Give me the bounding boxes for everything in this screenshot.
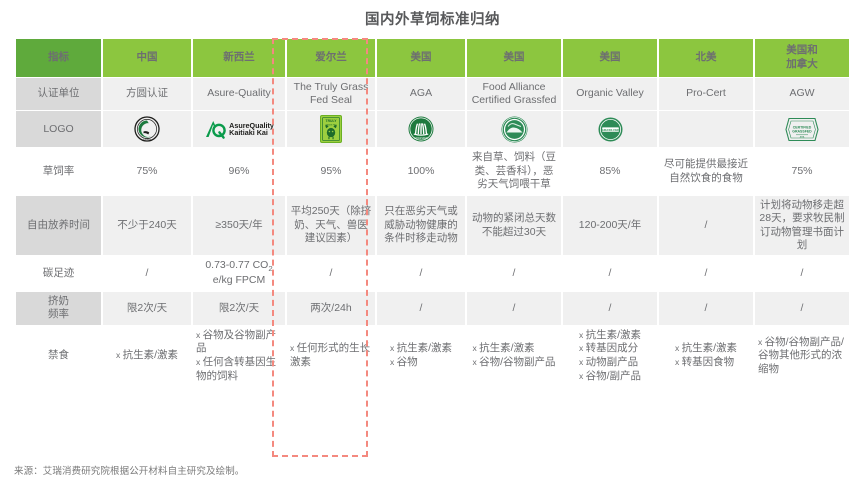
header-row: 指标 中国 新西兰 爱尔兰 美国 美国 美国 北美 美国和 加拿大 xyxy=(16,39,849,77)
cell-banned-newzealand: x 谷物及谷物副产品x 任何含转基因生物的饲料 xyxy=(193,326,285,387)
ban-x-mark-icon: x xyxy=(675,357,682,367)
cell-grassrate-usa-canada: 75% xyxy=(755,148,849,194)
cell-logo-newzealand: AsureQuality Kaitiaki Kai xyxy=(193,111,285,147)
header-usa-canada-line1: 美国和 xyxy=(786,44,818,56)
table-row-certification-body: 认证单位 方圆认证 Asure-Quality The Truly Grass … xyxy=(16,78,849,111)
header-usa-organicvalley: 美国 xyxy=(563,39,657,77)
header-usa-canada: 美国和 加拿大 xyxy=(755,39,849,77)
ban-x-mark-icon: x xyxy=(390,343,397,353)
ban-item: x 抗生素/激素 xyxy=(675,342,737,356)
cell-cert-usa-organicvalley: Organic Valley xyxy=(563,78,657,111)
ban-item: x 抗生素/激素 xyxy=(579,329,641,343)
cell-logo-usa-foodalliance xyxy=(467,111,561,147)
ban-item-label: 谷物/副产品 xyxy=(586,370,641,382)
ban-item: x 任何含转基因生物的饲料 xyxy=(196,356,282,383)
header-china: 中国 xyxy=(103,39,191,77)
asurequality-logo-text: AsureQuality Kaitiaki Kai xyxy=(229,122,274,137)
ban-item: x 谷物 xyxy=(390,356,452,370)
comparison-table-container: 指标 中国 新西兰 爱尔兰 美国 美国 美国 北美 美国和 加拿大 认证单位 方… xyxy=(0,38,865,388)
ban-item-label: 抗生素/激素 xyxy=(479,342,534,354)
cell-grassrate-usa-organicvalley: 85% xyxy=(563,148,657,194)
row-label-milking-frequency: 挤奶 频率 xyxy=(16,292,101,325)
cell-freerange-usa-organicvalley: 120-200天/年 xyxy=(563,196,657,256)
ban-item-label: 动物副产品 xyxy=(586,356,639,368)
cell-freerange-usa-canada: 计划将动物移走超28天，要求牧民制订动物管理书面计划 xyxy=(755,196,849,256)
ban-x-mark-icon: x xyxy=(290,343,297,353)
ban-x-mark-icon: x xyxy=(758,337,765,347)
ban-item: x 动物副产品 xyxy=(579,356,641,370)
source-note: 来源：艾瑞消费研究院根据公开材料自主研究及绘制。 xyxy=(14,463,244,477)
cell-cert-north-america: Pro-Cert xyxy=(659,78,753,111)
ban-x-mark-icon: x xyxy=(579,343,586,353)
ban-x-mark-icon: x xyxy=(675,343,682,353)
table-row-logo: LOGO CHINA xyxy=(16,111,849,147)
cell-cert-newzealand: Asure-Quality xyxy=(193,78,285,111)
cell-carbon-north-america: / xyxy=(659,256,753,290)
ban-x-mark-icon: x xyxy=(116,350,123,360)
header-usa-aga: 美国 xyxy=(377,39,465,77)
cell-grassrate-usa-aga: 100% xyxy=(377,148,465,194)
header-ireland: 爱尔兰 xyxy=(287,39,375,77)
table-row-free-range: 自由放养时间 不少于240天 ≥350天/年 平均250天（除挤奶、天气、兽医建… xyxy=(16,196,849,256)
ban-item-label: 任何形式的生长激素 xyxy=(290,342,370,368)
cell-milking-usa-organicvalley: / xyxy=(563,292,657,325)
table-row-milking-frequency: 挤奶 频率 限2次/天 限2次/天 两次/24h / / / / / xyxy=(16,292,849,325)
aga-badge-text: GRASSFED xyxy=(414,138,428,141)
agw-badge-line2: GRASSFED xyxy=(792,129,812,133)
row-label-banned-feed: 禁食 xyxy=(16,326,101,387)
ban-item-label: 谷物 xyxy=(397,356,418,368)
cell-banned-china: x 抗生素/激素 xyxy=(103,326,191,387)
aga-grassfed-circle-icon: GRASSFED xyxy=(380,115,462,143)
cell-carbon-usa-organicvalley: / xyxy=(563,256,657,290)
table-body: 认证单位 方圆认证 Asure-Quality The Truly Grass … xyxy=(16,78,849,387)
cell-logo-ireland: TRULY GRASS FED xyxy=(287,111,375,147)
svg-text:TRULY: TRULY xyxy=(326,119,338,123)
cell-milking-usa-aga: / xyxy=(377,292,465,325)
ban-item-label: 转基因食物 xyxy=(682,356,735,368)
cell-banned-ireland: x 任何形式的生长激素 xyxy=(287,326,375,387)
ban-x-mark-icon: x xyxy=(579,330,586,340)
table-row-banned-feed: 禁食 x 抗生素/激素 x 谷物及谷物副产品x 任何含转基因生物的饲料 x 任何… xyxy=(16,326,849,387)
cell-cert-ireland: The Truly Grass Fed Seal xyxy=(287,78,375,111)
row-label-grass-rate: 草饲率 xyxy=(16,148,101,194)
cell-milking-north-america: / xyxy=(659,292,753,325)
ban-item-label: 转基因成分 xyxy=(586,342,639,354)
header-usa-foodalliance: 美国 xyxy=(467,39,561,77)
ban-item-label: 谷物/谷物副产品 xyxy=(479,356,555,368)
milking-label-line2: 频率 xyxy=(48,308,69,320)
ban-item: x 谷物/谷物副产品 xyxy=(472,356,555,370)
truly-grass-fed-badge-icon: TRULY GRASS FED xyxy=(290,115,372,143)
milking-label-line1: 挤奶 xyxy=(48,295,69,307)
cell-grassrate-china: 75% xyxy=(103,148,191,194)
cell-carbon-usa-canada: / xyxy=(755,256,849,290)
cell-banned-north-america: x 抗生素/激素x 转基因食物 xyxy=(659,326,753,387)
ban-item: x 任何形式的生长激素 xyxy=(290,342,372,369)
ban-item: x 谷物及谷物副产品 xyxy=(196,329,282,356)
cell-carbon-china: / xyxy=(103,256,191,290)
header-usa-canada-line2: 加拿大 xyxy=(786,58,818,70)
carbon-value-sub: 2 xyxy=(268,265,272,274)
cell-logo-usa-aga: GRASSFED xyxy=(377,111,465,147)
ban-x-mark-icon: x xyxy=(196,330,203,340)
cell-cert-usa-foodalliance: Food Alliance Certified Grassfed xyxy=(467,78,561,111)
cell-carbon-newzealand: 0.73-0.77 CO2 e/kg FPCM xyxy=(193,256,285,290)
cell-carbon-ireland: / xyxy=(287,256,375,290)
cell-cert-usa-canada: AGW xyxy=(755,78,849,111)
organic-valley-grassfed-badge-icon: GRASS FED xyxy=(566,115,654,143)
certified-grassfed-awa-badge-icon: CERTIFIED GRASSFED AWA xyxy=(758,115,846,143)
ban-list-newzealand: x 谷物及谷物副产品x 任何含转基因生物的饲料 xyxy=(196,329,282,384)
ban-item-label: 谷物/谷物副产品/谷物其他形式的浓缩物 xyxy=(758,336,844,375)
cell-milking-usa-canada: / xyxy=(755,292,849,325)
page-title: 国内外草饲标准归纳 xyxy=(0,0,865,38)
cell-milking-newzealand: 限2次/天 xyxy=(193,292,285,325)
ban-item-label: 抗生素/激素 xyxy=(397,342,452,354)
ban-item: x 抗生素/激素 xyxy=(390,342,452,356)
organic-valley-badge-text: GRASS FED xyxy=(601,128,620,132)
cell-cert-china: 方圆认证 xyxy=(103,78,191,111)
cell-carbon-usa-aga: / xyxy=(377,256,465,290)
row-label-carbon-footprint: 碳足迹 xyxy=(16,256,101,290)
ban-item: x 抗生素/激素 xyxy=(116,349,178,363)
ban-item: x 谷物/副产品 xyxy=(579,370,641,384)
carbon-value-part2: e/kg FPCM xyxy=(213,274,266,286)
cell-banned-usa-foodalliance: x 抗生素/激素x 谷物/谷物副产品 xyxy=(467,326,561,387)
cell-freerange-north-america: / xyxy=(659,196,753,256)
ban-item: x 抗生素/激素 xyxy=(472,342,555,356)
cell-logo-usa-canada: CERTIFIED GRASSFED AWA xyxy=(755,111,849,147)
cell-logo-usa-organicvalley: GRASS FED xyxy=(563,111,657,147)
cell-carbon-usa-foodalliance: / xyxy=(467,256,561,290)
asure-line-2: Kaitiaki Kai xyxy=(229,129,274,137)
cell-grassrate-usa-foodalliance: 来自草、饲料（豆类、芸香科），恶劣天气饲喂干草 xyxy=(467,148,561,194)
cell-milking-usa-foodalliance: / xyxy=(467,292,561,325)
ban-item: x 转基因食物 xyxy=(675,356,737,370)
ban-item-label: 谷物及谷物副产品 xyxy=(196,329,276,355)
cell-grassrate-newzealand: 96% xyxy=(193,148,285,194)
grass-fed-standards-table: 指标 中国 新西兰 爱尔兰 美国 美国 美国 北美 美国和 加拿大 认证单位 方… xyxy=(14,38,851,388)
cell-milking-ireland: 两次/24h xyxy=(287,292,375,325)
cell-grassrate-north-america: 尽可能提供最接近自然饮食的食物 xyxy=(659,148,753,194)
table-row-grass-rate: 草饲率 75% 96% 95% 100% 来自草、饲料（豆类、芸香科），恶劣天气… xyxy=(16,148,849,194)
cell-banned-usa-organicvalley: x 抗生素/激素x 转基因成分x 动物副产品x 谷物/副产品 xyxy=(563,326,657,387)
ban-list-usa-organicvalley: x 抗生素/激素x 转基因成分x 动物副产品x 谷物/副产品 xyxy=(579,329,641,384)
cell-freerange-china: 不少于240天 xyxy=(103,196,191,256)
header-north-america: 北美 xyxy=(659,39,753,77)
ban-x-mark-icon: x xyxy=(579,371,586,381)
cell-freerange-newzealand: ≥350天/年 xyxy=(193,196,285,256)
food-alliance-certified-seal-icon xyxy=(470,115,558,143)
cell-logo-north-america xyxy=(659,111,753,147)
ban-item: x 谷物/谷物副产品/谷物其他形式的浓缩物 xyxy=(758,336,846,377)
row-label-free-range: 自由放养时间 xyxy=(16,196,101,256)
row-label-certification-body: 认证单位 xyxy=(16,78,101,111)
ban-list-ireland: x 任何形式的生长激素 xyxy=(290,342,372,369)
table-header: 指标 中国 新西兰 爱尔兰 美国 美国 美国 北美 美国和 加拿大 xyxy=(16,39,849,77)
ban-x-mark-icon: x xyxy=(196,357,203,367)
table-row-carbon-footprint: 碳足迹 / 0.73-0.77 CO2 e/kg FPCM / / / / / … xyxy=(16,256,849,290)
svg-text:CHINA: CHINA xyxy=(143,138,151,142)
ban-x-mark-icon: x xyxy=(390,357,397,367)
cell-grassrate-ireland: 95% xyxy=(287,148,375,194)
ban-x-mark-icon: x xyxy=(579,357,586,367)
ban-list-usa-aga: x 抗生素/激素x 谷物 xyxy=(390,342,452,369)
cell-banned-usa-canada: x 谷物/谷物副产品/谷物其他形式的浓缩物 xyxy=(755,326,849,387)
ban-list-usa-foodalliance: x 抗生素/激素x 谷物/谷物副产品 xyxy=(472,342,555,369)
row-label-logo: LOGO xyxy=(16,111,101,147)
ban-item-label: 抗生素/激素 xyxy=(123,349,178,361)
cell-logo-china: CHINA xyxy=(103,111,191,147)
cell-freerange-ireland: 平均250天（除挤奶、天气、兽医建议因素） xyxy=(287,196,375,256)
cell-banned-usa-aga: x 抗生素/激素x 谷物 xyxy=(377,326,465,387)
ban-list-usa-canada: x 谷物/谷物副产品/谷物其他形式的浓缩物 xyxy=(758,336,846,377)
china-certification-seal-icon: CHINA xyxy=(106,115,188,143)
asurequality-kaitiaki-kai-logo-icon: AsureQuality Kaitiaki Kai xyxy=(204,118,274,140)
header-metric: 指标 xyxy=(16,39,101,77)
cell-freerange-usa-foodalliance: 动物的紧闭总天数不能超过30天 xyxy=(467,196,561,256)
cell-cert-usa-aga: AGA xyxy=(377,78,465,111)
ban-list-china: x 抗生素/激素 xyxy=(116,349,178,363)
cell-milking-china: 限2次/天 xyxy=(103,292,191,325)
svg-text:AWA: AWA xyxy=(800,135,805,138)
ban-item-label: 任何含转基因生物的饲料 xyxy=(196,356,276,382)
cell-freerange-usa-aga: 只在恶劣天气或威胁动物健康的条件时移走动物 xyxy=(377,196,465,256)
carbon-value-part1: 0.73-0.77 CO xyxy=(205,259,268,271)
ban-list-north-america: x 抗生素/激素x 转基因食物 xyxy=(675,342,737,369)
header-newzealand: 新西兰 xyxy=(193,39,285,77)
ban-item: x 转基因成分 xyxy=(579,342,641,356)
ban-item-label: 抗生素/激素 xyxy=(682,342,737,354)
ban-item-label: 抗生素/激素 xyxy=(586,329,641,341)
